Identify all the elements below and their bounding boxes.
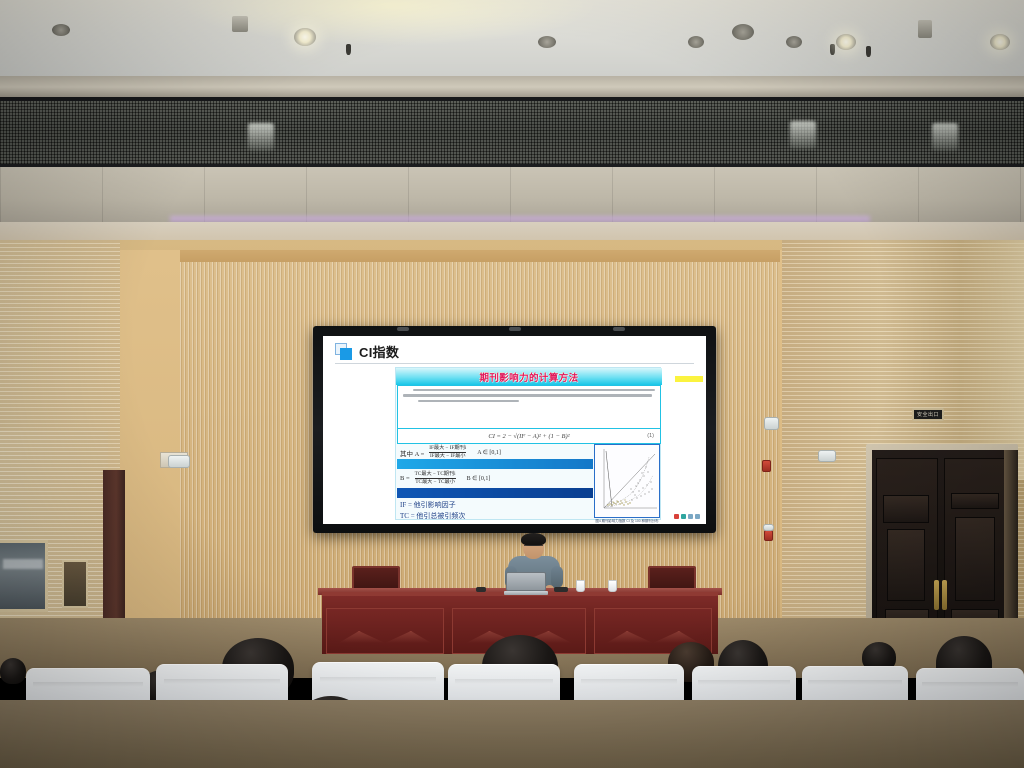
ceiling-speaker-icon xyxy=(918,20,932,38)
ceiling-vent-icon xyxy=(732,24,754,40)
slide-title: CI指数 xyxy=(359,342,399,361)
slide-banner: 期刊影响力的计算方法 xyxy=(396,368,662,385)
screen-mount xyxy=(397,327,409,331)
exit-sign-label: 安全出口 xyxy=(917,411,939,418)
audience-head xyxy=(0,658,26,684)
formula-b-denominator: TC最大 − TC最小 xyxy=(415,480,455,485)
equation-number: (1) xyxy=(647,433,654,439)
sprinkler-icon xyxy=(346,44,351,55)
door-handle-right[interactable] xyxy=(942,580,947,610)
presentation-slide[interactable]: CI指数 期刊影响力的计算方法 CI = 2 − √(IF − A)² + (1… xyxy=(323,336,706,524)
ceiling-downlight xyxy=(990,34,1010,50)
formula-b-numerator: TC最大 − TC期刊i xyxy=(415,472,456,477)
formula-b-prefix: B = xyxy=(400,475,410,482)
foreground-floor xyxy=(0,700,1024,768)
formula-b: B = TC最大 − TC期刊i TC最大 − TC最小 B ∈ [0,1] xyxy=(400,472,590,485)
slide-content-box: 期刊影响力的计算方法 CI = 2 − √(IF − A)² + (1 − B)… xyxy=(395,367,661,520)
paragraph-line xyxy=(403,394,652,396)
screen-mount xyxy=(613,327,625,331)
screen-mount xyxy=(509,327,521,331)
ceiling-upper xyxy=(0,0,1024,76)
ceiling-vent-icon xyxy=(688,36,704,48)
grille-reflection xyxy=(790,121,816,149)
ceiling-vent-icon xyxy=(538,36,556,48)
slide-scatter-chart xyxy=(594,444,660,518)
blue-square-icon xyxy=(335,343,352,360)
formula-b-fraction: TC最大 − TC期刊i TC最大 − TC最小 xyxy=(415,472,456,485)
wall-switch-icon[interactable] xyxy=(168,455,190,468)
menu-icon[interactable] xyxy=(695,514,700,519)
water-cup xyxy=(576,580,585,592)
paragraph-line xyxy=(418,400,519,402)
chart-caption: 图4 期刊影响力指数 CI 及 100 种期刊分布人位 a 分布图 xyxy=(594,518,660,524)
exit-sign: 安全出口 xyxy=(912,408,944,421)
grille-reflection xyxy=(932,123,958,151)
slide-banner-title: 期刊影响力的计算方法 xyxy=(479,370,578,384)
door-handle-left[interactable] xyxy=(934,580,939,610)
slide-main-equation-row: CI = 2 − √(IF − A)² + (1 − B)² (1) xyxy=(397,429,661,444)
sprinkler-icon xyxy=(866,46,871,57)
paragraph-line xyxy=(413,389,655,391)
door-panel xyxy=(955,517,995,601)
pen-icon[interactable] xyxy=(688,514,693,519)
slide-mini-toolbar[interactable] xyxy=(674,514,700,519)
ceiling-vent-icon xyxy=(52,24,70,36)
slide-divider-bar-dark xyxy=(397,488,593,498)
formula-a-numerator: IF最大 − IF期刊i xyxy=(429,446,466,451)
grille-reflection xyxy=(248,123,274,151)
slide-divider-bar-light xyxy=(397,459,593,469)
presenter-glasses xyxy=(524,545,543,549)
lecture-hall-photo: 安全出口 CI指数 期刊影 xyxy=(0,0,1024,768)
fire-call-plate xyxy=(763,524,774,531)
ceiling-stone-band xyxy=(0,76,1024,98)
yellow-highlight-mark xyxy=(675,376,703,382)
presenter-arm-right xyxy=(551,566,563,588)
door-panel xyxy=(883,495,929,523)
microphone xyxy=(554,587,568,592)
door-panel xyxy=(951,493,999,509)
ceiling-downlight xyxy=(836,34,856,50)
fire-alarm-icon xyxy=(762,460,771,472)
fire-call-point-icon xyxy=(764,530,773,541)
legend-item-tc: TC = 他引总被引频次 xyxy=(400,511,590,522)
slide-icon[interactable] xyxy=(681,514,686,519)
formula-a-range: A ∈ [0,1] xyxy=(477,449,501,456)
water-cup xyxy=(608,580,617,592)
ceiling-downlight xyxy=(294,28,316,46)
desk-item xyxy=(476,587,486,592)
legend-item-if: IF = 他引影响因子 xyxy=(400,500,590,511)
ceiling-grille-band xyxy=(0,97,1024,167)
light-switch-icon[interactable] xyxy=(818,450,836,462)
formula-a-fraction: IF最大 − IF期刊i IF最大 − IF最小 xyxy=(429,446,466,459)
slide-legend: IF = 他引影响因子 TC = 他引总被引频次 xyxy=(400,500,590,522)
record-icon[interactable] xyxy=(674,514,679,519)
ceiling-vent-icon xyxy=(786,36,802,48)
formula-a-prefix: 其中 A = xyxy=(400,448,424,458)
slide-paragraph xyxy=(397,385,661,429)
scatter-chart-svg xyxy=(595,445,661,519)
wall-vent-icon xyxy=(62,560,88,608)
ceiling-speaker-icon xyxy=(232,16,248,32)
laptop xyxy=(504,572,548,594)
formula-a: 其中 A = IF最大 − IF期刊i IF最大 − IF最小 A ∈ [0,1… xyxy=(400,446,590,459)
door-panel xyxy=(887,529,925,601)
slide-title-divider xyxy=(335,363,694,364)
slide-title-row: CI指数 xyxy=(335,342,399,361)
control-room-window xyxy=(0,540,48,612)
slide-main-equation: CI = 2 − √(IF − A)² + (1 − B)² xyxy=(488,433,569,440)
sprinkler-icon xyxy=(830,44,835,55)
wall-speaker-icon xyxy=(764,417,779,430)
formula-b-range: B ∈ [0,1] xyxy=(467,475,491,482)
